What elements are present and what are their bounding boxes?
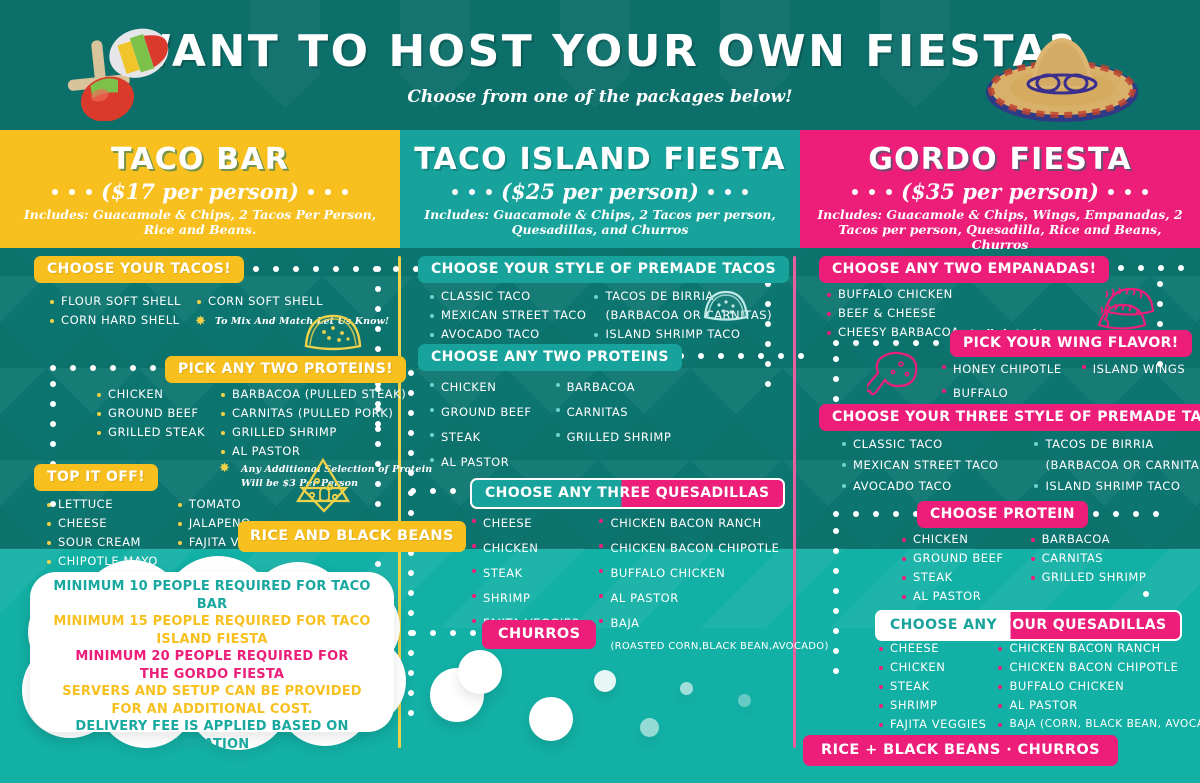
- premade-taco-list-col1: Classic Taco Mexican Street Taco Avocado…: [428, 288, 586, 345]
- list-item: Grilled Steak: [95, 424, 205, 441]
- list-item: Cheese: [877, 640, 986, 657]
- list-item: Shrimp: [877, 697, 986, 714]
- section-label-premade-tacos: CHOOSE YOUR STYLE OF PREMADE TACOS: [418, 256, 789, 283]
- maracas-icon: [48, 26, 193, 121]
- package-header-gordo-fiesta: GORDO FIESTA ($35 per person) Includes: …: [800, 130, 1200, 248]
- wing-flavor-list-col2: Island Wings: [1080, 358, 1186, 406]
- list-item: Island Wings: [1080, 358, 1186, 380]
- star-icon: ✸: [195, 313, 206, 330]
- cloud-note-line: MINIMUM 20 PEOPLE REQUIRED FOR: [44, 648, 380, 666]
- package-price: ($17 per person): [101, 179, 299, 204]
- list-item: (Barbacoa or Carnitas): [1032, 456, 1200, 475]
- protein-list-col2: Barbacoa Carnitas Grilled Shrimp: [554, 376, 672, 476]
- taco-outline-icon: [700, 284, 752, 324]
- list-item: Fajita Veggies: [877, 716, 986, 733]
- list-item: Classic Taco: [428, 288, 586, 305]
- dot-rail-vertical: [833, 356, 839, 402]
- column-gordo-fiesta: CHOOSE ANY TWO EMPANADAS! Buffalo Chicke…: [795, 248, 1200, 783]
- list-item: Tacos de Birria: [1032, 435, 1200, 454]
- list-item: Barbacoa: [1029, 531, 1147, 548]
- package-name: GORDO FIESTA: [810, 142, 1190, 177]
- section-label-two-empanadas: CHOOSE ANY TWO EMPANADAS!: [819, 256, 1109, 283]
- item-label: Cheesy Barbacoa: [838, 325, 960, 339]
- protein-list-col2: Barbacoa Carnitas Grilled Shrimp: [1029, 531, 1147, 607]
- list-item: Steak: [900, 569, 1004, 586]
- cloud-note-line: MINIMUM 15 PEOPLE REQUIRED FOR TACO: [44, 613, 380, 631]
- list-item: Island Shrimp Taco: [592, 326, 772, 343]
- package-name: TACO BAR: [10, 142, 390, 177]
- cloud-note-line: FOR AN ADDITIONAL COST.: [44, 701, 380, 719]
- list-item: Ground Beef: [95, 405, 205, 422]
- list-item: Tomato: [176, 496, 285, 513]
- cloud-note-line: MINIMUM 10 PEOPLE REQUIRED FOR TACO BAR: [44, 578, 380, 613]
- list-item: Corn Hard Shell: [48, 312, 181, 329]
- sombrero-icon: [982, 30, 1142, 125]
- label-part-a: CHOOSE ANY: [485, 485, 592, 501]
- list-item: Avocado taco: [840, 477, 998, 496]
- package-header-taco-island-fiesta: TACO ISLAND FIESTA ($25 per person) Incl…: [400, 130, 800, 248]
- list-item: Al Pastor: [428, 451, 532, 474]
- dot-rail-vertical: [833, 528, 839, 674]
- quesadilla-list-col1: Cheese Chicken Steak Shrimp Fajita Veggi…: [877, 640, 986, 735]
- protein-list-col1: Chicken Ground Beef Steak Al Pastor: [428, 376, 532, 476]
- decorative-bubble: [458, 650, 502, 694]
- list-item: Al Pastor: [597, 587, 828, 610]
- package-price: ($25 per person): [501, 179, 699, 204]
- list-item: Mexican Street Taco: [840, 456, 998, 475]
- dot-decoration: [852, 189, 892, 195]
- list-item: Island Shrimp Taco: [1032, 477, 1200, 496]
- taco-shell-list-col1: Flour Soft Shell Corn Hard Shell: [48, 293, 181, 331]
- dot-decoration: [52, 189, 92, 195]
- badge-churros: CHURROS: [482, 620, 596, 649]
- badge-rice-beans-churros: RICE + BLACK BEANS · CHURROS: [803, 735, 1118, 766]
- decorative-bubble: [738, 694, 751, 707]
- list-item: Avocado taco: [428, 326, 586, 343]
- list-item: Chicken: [428, 376, 532, 399]
- list-item: Baja (Corn, black bean, avocado): [996, 716, 1200, 733]
- list-item: Sour Cream: [45, 534, 158, 551]
- section-label-three-quesadillas: CHOOSE ANY THREE QUESADILLAS: [470, 478, 785, 509]
- quesadilla-list-col2: Chicken Bacon Ranch Chicken Bacon Chipot…: [597, 512, 828, 659]
- list-item: Al Pastor: [996, 697, 1200, 714]
- list-item: Steak: [470, 562, 579, 585]
- dot-decoration: [1108, 189, 1148, 195]
- list-item: Honey Chipotle: [940, 358, 1062, 380]
- package-price: ($35 per person): [901, 179, 1099, 204]
- dot-decoration: [308, 189, 348, 195]
- cloud-note-line: ISLAND FIESTA: [44, 631, 380, 649]
- badge-rice-and-black-beans: RICE AND BLACK BEANS: [238, 521, 466, 552]
- star-icon: ✸: [219, 463, 230, 475]
- label-part-b: THREE QUESADILLAS: [597, 485, 769, 501]
- dot-rail-horizontal: [833, 511, 919, 517]
- package-includes: Includes: Guacamole & Chips, Wings, Empa…: [810, 207, 1190, 252]
- section-label-two-proteins: CHOOSE ANY TWO PROTEINS: [418, 344, 682, 371]
- empanada-outline-icon: [1095, 281, 1157, 337]
- label-part-b: FOUR QUESADILLAS: [1002, 617, 1166, 633]
- list-item: Mexican Street Taco: [428, 307, 586, 324]
- label-part-a: CHOOSE ANY: [890, 617, 997, 633]
- list-item: Baja: [597, 612, 828, 635]
- wing-flavor-list-col1: Honey Chipotle Buffalo: [940, 358, 1062, 406]
- list-item: Chicken Bacon Ranch: [597, 512, 828, 535]
- dot-decoration: [452, 189, 492, 195]
- list-item: Chicken: [877, 659, 986, 676]
- section-label-four-quesadillas: CHOOSE ANY FOUR QUESADILLAS: [875, 610, 1182, 641]
- list-item: Chicken Bacon Chipotle: [597, 537, 828, 560]
- list-item: Cheese: [470, 512, 579, 535]
- premade-taco-list-col2: Tacos de Birria (Barbacoa or Carnitas) I…: [1032, 435, 1200, 498]
- baja-note: (roasted corn,black bean,Avocado): [597, 637, 828, 657]
- package-includes: Includes: Guacamole & Chips, 2 Tacos Per…: [10, 207, 390, 237]
- list-item: Barbacoa: [554, 376, 672, 399]
- list-item: Grilled Shrimp: [1029, 569, 1147, 586]
- list-item: Buffalo Chicken: [825, 286, 1043, 303]
- dot-rail-vertical: [765, 281, 771, 387]
- chicken-wing-outline-icon: [867, 348, 923, 400]
- package-includes: Includes: Guacamole & Chips, 2 Tacos per…: [410, 207, 790, 237]
- list-item: Al Pastor: [900, 588, 1004, 605]
- list-item: Steak: [877, 678, 986, 695]
- poster-header: WANT TO HOST YOUR OWN FIESTA? Choose fro…: [0, 0, 1200, 130]
- list-item: Lettuce: [45, 496, 158, 513]
- list-item: Buffalo: [940, 382, 1062, 404]
- list-item: Buffalo Chicken: [996, 678, 1200, 695]
- package-header-bar: TACO BAR ($17 per person) Includes: Guac…: [0, 130, 1200, 248]
- cloud-note-line: DELIVERY FEE IS APPLIED BASED ON LOCATIO…: [44, 718, 380, 753]
- section-label-top-it-off: TOP IT OFF!: [34, 464, 158, 491]
- package-header-taco-bar: TACO BAR ($17 per person) Includes: Guac…: [0, 130, 400, 248]
- dot-rail-vertical: [1143, 591, 1149, 597]
- list-item: Chicken Bacon Chipotle: [996, 659, 1200, 676]
- section-label-choose-protein: CHOOSE PROTEIN: [917, 501, 1088, 528]
- decorative-bubble: [529, 697, 573, 741]
- decorative-bubble: [640, 718, 659, 737]
- package-name: TACO ISLAND FIESTA: [410, 142, 790, 177]
- quesadilla-list-col2: Chicken Bacon Ranch Chicken Bacon Chipot…: [996, 640, 1200, 735]
- list-item: Beef & Cheese: [825, 305, 1043, 322]
- list-item: Cheese: [45, 515, 158, 532]
- nachos-outline-icon: [290, 455, 356, 517]
- list-item: Carnitas: [554, 401, 672, 424]
- protein-list-col1: Chicken Ground Beef Steak Al Pastor: [900, 531, 1004, 607]
- section-label-pick-any-two-proteins: PICK ANY TWO PROTEINS!: [165, 356, 406, 383]
- list-item: Chicken: [95, 386, 205, 403]
- cloud-note-line: THE GORDO FIESTA: [44, 666, 380, 684]
- taco-outline-icon: [300, 306, 366, 354]
- cloud-note-line: SERVERS AND SETUP CAN BE PROVIDED: [44, 683, 380, 701]
- list-item: Buffalo Chicken: [597, 562, 828, 585]
- list-item: Grilled Shrimp: [554, 426, 672, 449]
- list-item: Chicken: [470, 537, 579, 560]
- dot-decoration: [708, 189, 748, 195]
- list-item: Shrimp: [470, 587, 579, 610]
- fiesta-catering-poster: WANT TO HOST YOUR OWN FIESTA? Choose fro…: [0, 0, 1200, 783]
- cloud-notes: MINIMUM 10 PEOPLE REQUIRED FOR TACO BAR …: [44, 578, 380, 724]
- minimum-requirements-cloud: MINIMUM 10 PEOPLE REQUIRED FOR TACO BAR …: [22, 556, 402, 746]
- section-label-three-premade-tacos: CHOOSE YOUR THREE STYLE OF PREMADE TACOS: [819, 404, 1200, 431]
- premade-taco-list-col1: Classic Taco Mexican Street Taco Avocado…: [840, 435, 998, 498]
- list-item: Chicken Bacon Ranch: [996, 640, 1200, 657]
- list-item: Steak: [428, 426, 532, 449]
- decorative-bubble: [594, 670, 616, 692]
- list-item: Ground Beef: [428, 401, 532, 424]
- list-item: Carnitas: [1029, 550, 1147, 567]
- section-label-choose-your-tacos: CHOOSE YOUR TACOS!: [34, 256, 244, 283]
- list-item: Chicken: [900, 531, 1004, 548]
- list-item: Ground Beef: [900, 550, 1004, 567]
- list-item: Flour Soft Shell: [48, 293, 181, 310]
- list-item: Classic Taco: [840, 435, 998, 454]
- decorative-bubble: [680, 682, 693, 695]
- section-label-wing-flavor: PICK YOUR WING FLAVOR!: [950, 330, 1192, 357]
- dot-rail-horizontal: [410, 488, 476, 494]
